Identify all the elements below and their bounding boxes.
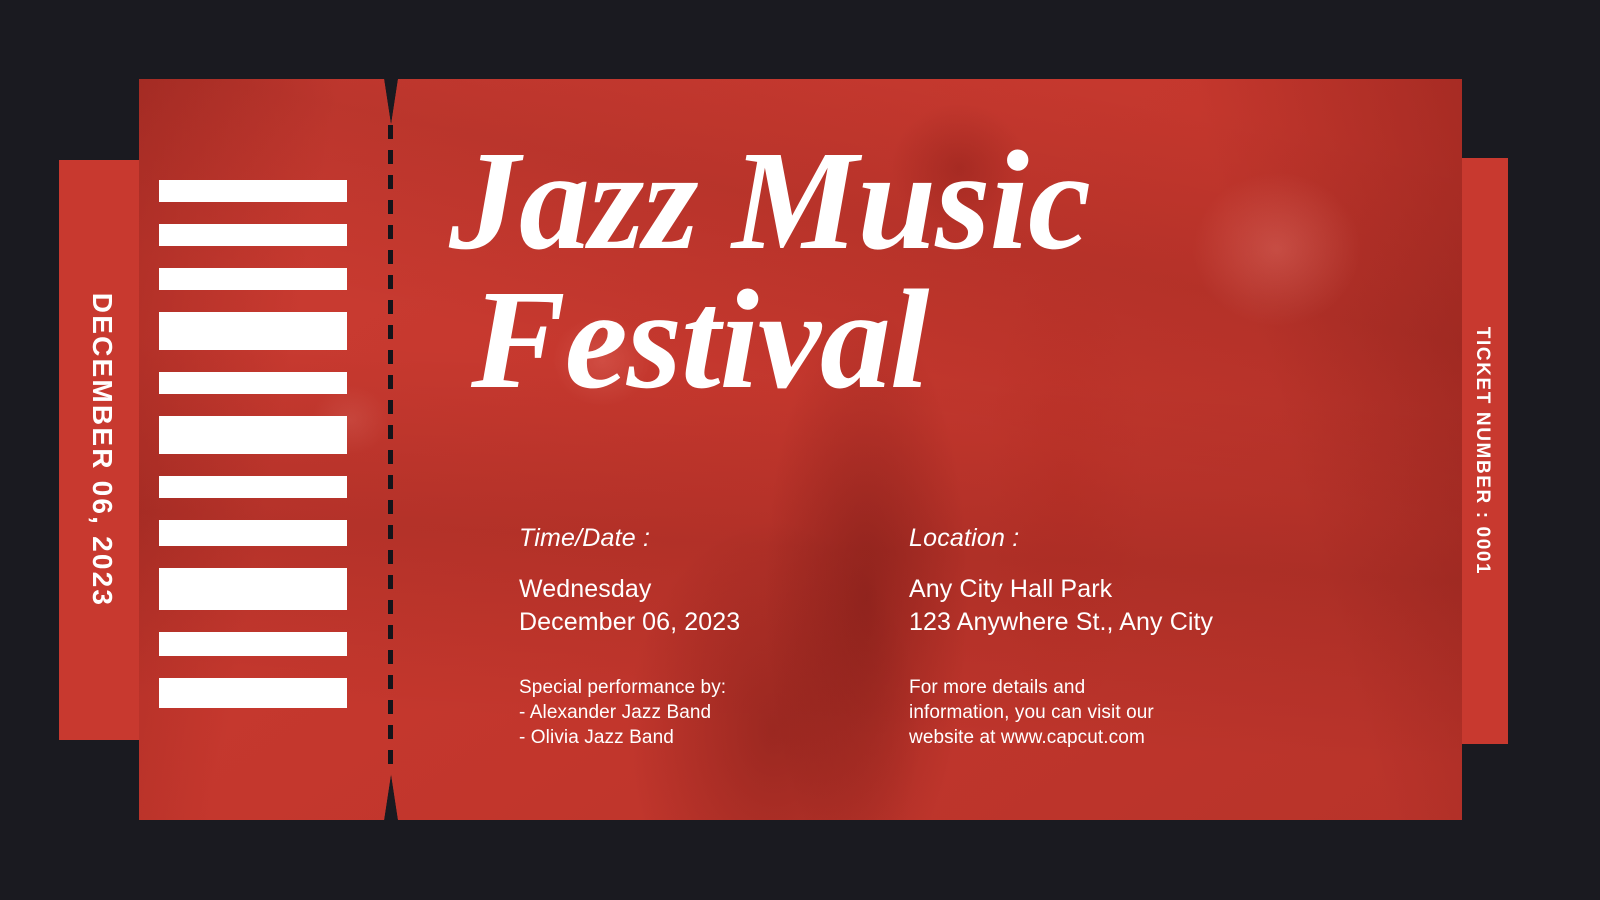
performance-note: Special performance by: - Alexander Jazz… xyxy=(519,675,909,750)
title-line-1: Jazz Music xyxy=(449,131,1329,270)
barcode xyxy=(159,180,347,708)
location-heading: Location : xyxy=(909,524,1299,553)
website-note-line-2: information, you can visit our xyxy=(909,700,1299,725)
barcode-bar xyxy=(159,416,347,454)
website-note: For more details and information, you ca… xyxy=(909,675,1299,750)
location-column: Location : Any City Hall Park 123 Anywhe… xyxy=(909,524,1299,750)
stub-date-label: DECEMBER 06, 2023 xyxy=(86,293,118,607)
time-date-heading: Time/Date : xyxy=(519,524,909,553)
page-title: Jazz Music Festival xyxy=(449,131,1329,409)
barcode-bar xyxy=(159,632,347,656)
ticket-body: Jazz Music Festival Time/Date : Wednesda… xyxy=(139,79,1462,820)
performance-note-line-3: - Olivia Jazz Band xyxy=(519,725,909,750)
barcode-bar xyxy=(159,476,347,498)
barcode-bar xyxy=(159,312,347,350)
barcode-bar xyxy=(159,568,347,610)
ticket-details: Time/Date : Wednesday December 06, 2023 … xyxy=(519,524,1399,750)
title-line-2: Festival xyxy=(449,270,1329,409)
location-line-2: 123 Anywhere St., Any City xyxy=(909,606,1299,639)
barcode-bar xyxy=(159,520,347,546)
time-date-value: Wednesday December 06, 2023 xyxy=(519,573,909,639)
website-note-line-1: For more details and xyxy=(909,675,1299,700)
left-ticket-stub: DECEMBER 06, 2023 xyxy=(59,160,145,740)
location-line-1: Any City Hall Park xyxy=(909,573,1299,606)
perforation-tear-line xyxy=(388,125,393,775)
barcode-bar xyxy=(159,372,347,394)
ticket-number-label: TICKET NUMBER : 0001 xyxy=(1471,327,1493,575)
time-date-line-1: Wednesday xyxy=(519,573,909,606)
performance-note-line-1: Special performance by: xyxy=(519,675,909,700)
ticket-canvas: DECEMBER 06, 2023 TICKET NUMBER : 0001 J… xyxy=(0,0,1600,900)
time-date-column: Time/Date : Wednesday December 06, 2023 … xyxy=(519,524,909,750)
time-date-line-2: December 06, 2023 xyxy=(519,606,909,639)
barcode-bar xyxy=(159,224,347,246)
right-ticket-stub: TICKET NUMBER : 0001 xyxy=(1456,158,1508,744)
barcode-bar xyxy=(159,180,347,202)
performance-note-line-2: - Alexander Jazz Band xyxy=(519,700,909,725)
barcode-bar xyxy=(159,268,347,290)
barcode-bar xyxy=(159,678,347,708)
website-note-line-3: website at www.capcut.com xyxy=(909,725,1299,750)
location-value: Any City Hall Park 123 Anywhere St., Any… xyxy=(909,573,1299,639)
